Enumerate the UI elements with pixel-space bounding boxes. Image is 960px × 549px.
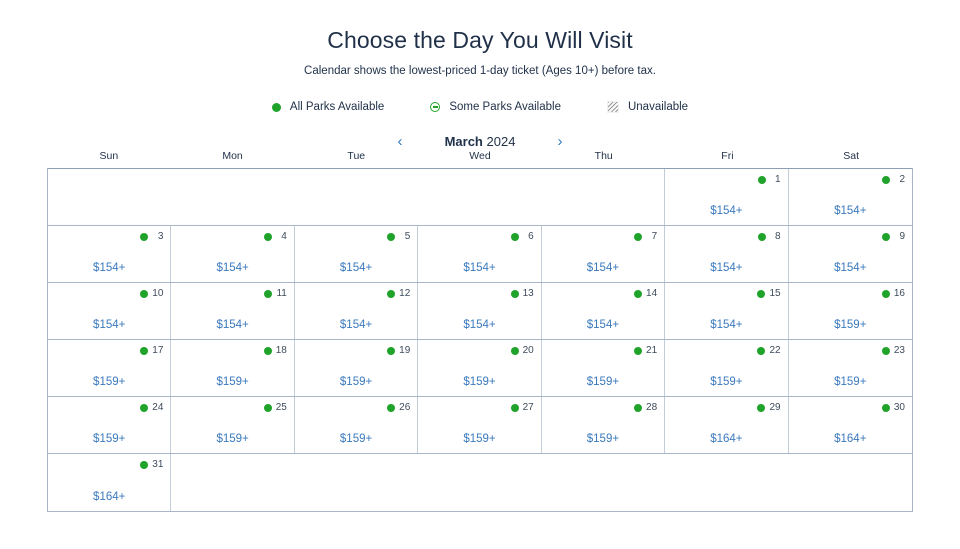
day-header: 14 (634, 288, 657, 299)
availability-legend: All Parks Available Some Parks Available… (0, 99, 960, 115)
day-number: 7 (646, 231, 657, 242)
green-dot-filled-icon (387, 233, 395, 241)
calendar-day-cell[interactable]: 17$159+ (48, 340, 171, 396)
day-number: 9 (894, 231, 905, 242)
calendar-day-cell[interactable]: 16$159+ (789, 283, 912, 339)
day-header: 1 (758, 174, 781, 185)
day-price: $159+ (789, 318, 912, 332)
day-header: 5 (387, 231, 410, 242)
day-number: 8 (770, 231, 781, 242)
day-price: $154+ (171, 261, 293, 275)
day-price: $159+ (48, 375, 170, 389)
day-header: 3 (140, 231, 163, 242)
calendar-day-cell[interactable]: 20$159+ (418, 340, 541, 396)
calendar-day-cell[interactable]: 30$164+ (789, 397, 912, 453)
day-number: 19 (399, 345, 410, 356)
day-price: $159+ (789, 375, 912, 389)
day-number: 17 (152, 345, 163, 356)
day-number: 23 (894, 345, 905, 356)
day-price: $159+ (542, 375, 664, 389)
day-header: 23 (882, 345, 905, 356)
day-price: $154+ (789, 204, 912, 218)
month-navigation: ‹ March 2024 › (0, 132, 960, 152)
day-header: 10 (140, 288, 163, 299)
day-number: 3 (152, 231, 163, 242)
day-header: 24 (140, 402, 163, 413)
day-price: $159+ (171, 375, 293, 389)
green-dot-filled-icon (140, 347, 148, 355)
green-dot-filled-icon (882, 290, 890, 298)
day-price: $154+ (789, 261, 912, 275)
day-number: 4 (276, 231, 287, 242)
calendar-day-cell[interactable]: 26$159+ (295, 397, 418, 453)
green-dot-filled-icon (264, 290, 272, 298)
calendar-day-cell[interactable]: 22$159+ (665, 340, 788, 396)
weekday-label-thu: Thu (542, 150, 666, 164)
green-dot-filled-icon (758, 176, 766, 184)
day-number: 5 (399, 231, 410, 242)
day-number: 27 (523, 402, 534, 413)
calendar-day-cell[interactable]: 21$159+ (542, 340, 665, 396)
day-number: 15 (769, 288, 780, 299)
day-price: $154+ (665, 204, 787, 218)
day-price: $159+ (295, 432, 417, 446)
legend-label-some-parks: Some Parks Available (449, 100, 561, 114)
calendar-day-cell[interactable]: 15$154+ (665, 283, 788, 339)
day-number: 28 (646, 402, 657, 413)
day-price: $154+ (295, 318, 417, 332)
calendar-day-cell[interactable]: 13$154+ (418, 283, 541, 339)
green-dot-filled-icon (757, 290, 765, 298)
green-dot-filled-icon (757, 404, 765, 412)
green-dot-filled-icon (264, 404, 272, 412)
calendar-day-cell[interactable]: 12$154+ (295, 283, 418, 339)
day-price: $154+ (171, 318, 293, 332)
calendar-week-row: 1$154+2$154+ (48, 169, 912, 226)
green-dot-filled-icon (264, 233, 272, 241)
day-number: 2 (894, 174, 905, 185)
hatch-unavailable-icon (607, 101, 619, 113)
day-number: 25 (276, 402, 287, 413)
weekday-label-wed: Wed (418, 150, 542, 164)
day-price: $154+ (665, 261, 787, 275)
day-price: $154+ (542, 261, 664, 275)
day-number: 16 (894, 288, 905, 299)
green-dot-filled-icon (634, 290, 642, 298)
calendar-day-cell[interactable]: 18$159+ (171, 340, 294, 396)
year-number: 2024 (487, 134, 516, 149)
day-header: 12 (387, 288, 410, 299)
day-price: $164+ (48, 490, 170, 504)
green-dot-filled-icon (387, 404, 395, 412)
green-dot-filled-icon (140, 290, 148, 298)
day-header: 18 (264, 345, 287, 356)
day-header: 22 (757, 345, 780, 356)
day-header: 19 (387, 345, 410, 356)
green-dot-filled-icon (387, 290, 395, 298)
day-number: 20 (523, 345, 534, 356)
green-dot-filled-icon (140, 233, 148, 241)
day-header: 7 (634, 231, 657, 242)
day-header: 29 (757, 402, 780, 413)
day-header: 25 (264, 402, 287, 413)
day-price: $154+ (418, 318, 540, 332)
day-header: 8 (758, 231, 781, 242)
calendar-day-cell[interactable]: 6$154+ (418, 226, 541, 282)
calendar-day-cell[interactable]: 29$164+ (665, 397, 788, 453)
day-number: 1 (770, 174, 781, 185)
day-number: 18 (276, 345, 287, 356)
day-number: 24 (152, 402, 163, 413)
day-header: 20 (511, 345, 534, 356)
day-number: 30 (894, 402, 905, 413)
green-dot-filled-icon (511, 233, 519, 241)
calendar-week-row: 17$159+18$159+19$159+20$159+21$159+22$15… (48, 340, 912, 397)
calendar-grid: 1$154+2$154+3$154+4$154+5$154+6$154+7$15… (47, 168, 913, 512)
calendar-day-cell[interactable]: 5$154+ (295, 226, 418, 282)
calendar-day-cell[interactable]: 23$159+ (789, 340, 912, 396)
weekday-label-sun: Sun (47, 150, 171, 164)
weekday-header-row: SunMonTueWedThuFriSat (47, 150, 913, 164)
calendar-day-cell[interactable]: 14$154+ (542, 283, 665, 339)
day-price: $159+ (171, 432, 293, 446)
day-price: $154+ (542, 318, 664, 332)
calendar-day-cell[interactable]: 3$154+ (48, 226, 171, 282)
empty-days-placeholder (171, 454, 912, 511)
day-header: 15 (757, 288, 780, 299)
page-title: Choose the Day You Will Visit (0, 0, 960, 54)
day-price: $154+ (48, 318, 170, 332)
day-header: 2 (882, 174, 905, 185)
calendar-day-cell[interactable]: 24$159+ (48, 397, 171, 453)
day-header: 16 (882, 288, 905, 299)
day-price: $154+ (665, 318, 787, 332)
green-dot-filled-icon (511, 404, 519, 412)
day-number: 29 (769, 402, 780, 413)
day-header: 13 (511, 288, 534, 299)
calendar-week-row: 10$154+11$154+12$154+13$154+14$154+15$15… (48, 283, 912, 340)
day-number: 6 (523, 231, 534, 242)
day-header: 31 (140, 459, 163, 470)
day-number: 10 (152, 288, 163, 299)
day-price: $159+ (418, 375, 540, 389)
day-price: $159+ (418, 432, 540, 446)
green-dot-filled-icon (882, 233, 890, 241)
green-dot-filled-icon (387, 347, 395, 355)
page-subtitle: Calendar shows the lowest-priced 1-day t… (0, 54, 960, 78)
legend-label-unavailable: Unavailable (628, 100, 688, 114)
green-dot-filled-icon (140, 404, 148, 412)
calendar-day-cell[interactable]: 9$154+ (789, 226, 912, 282)
calendar-day-cell[interactable]: 10$154+ (48, 283, 171, 339)
current-month-label: March 2024 (420, 133, 540, 151)
weekday-label-sat: Sat (789, 150, 913, 164)
green-dot-filled-icon (272, 103, 281, 112)
day-price: $154+ (295, 261, 417, 275)
day-number: 22 (769, 345, 780, 356)
day-header: 27 (511, 402, 534, 413)
weekday-label-mon: Mon (171, 150, 295, 164)
day-price: $159+ (295, 375, 417, 389)
green-dot-filled-icon (140, 461, 148, 469)
next-month-chevron-icon[interactable]: › (540, 133, 580, 151)
weekday-label-fri: Fri (666, 150, 790, 164)
green-dot-filled-icon (264, 347, 272, 355)
day-price: $154+ (418, 261, 540, 275)
day-header: 21 (634, 345, 657, 356)
day-header: 6 (511, 231, 534, 242)
day-header: 4 (264, 231, 287, 242)
calendar-day-cell[interactable]: 11$154+ (171, 283, 294, 339)
empty-days-placeholder (48, 169, 665, 225)
legend-item-unavailable: Unavailable (607, 100, 688, 114)
day-price: $164+ (665, 432, 787, 446)
green-dot-filled-icon (882, 404, 890, 412)
green-dot-filled-icon (634, 347, 642, 355)
day-number: 11 (276, 288, 287, 299)
green-dot-partial-icon (430, 102, 440, 112)
calendar-day-cell[interactable]: 1$154+ (665, 169, 788, 225)
calendar-day-cell[interactable]: 8$154+ (665, 226, 788, 282)
calendar-day-cell[interactable]: 27$159+ (418, 397, 541, 453)
calendar-week-row: 31$164+ (48, 454, 912, 511)
green-dot-filled-icon (634, 404, 642, 412)
green-dot-filled-icon (511, 347, 519, 355)
calendar-day-cell[interactable]: 7$154+ (542, 226, 665, 282)
legend-label-all-parks: All Parks Available (290, 100, 384, 114)
day-header: 9 (882, 231, 905, 242)
green-dot-filled-icon (757, 347, 765, 355)
green-dot-filled-icon (758, 233, 766, 241)
day-number: 21 (646, 345, 657, 356)
calendar-week-row: 24$159+25$159+26$159+27$159+28$159+29$16… (48, 397, 912, 454)
legend-item-some-parks: Some Parks Available (430, 100, 561, 114)
day-header: 26 (387, 402, 410, 413)
calendar-week-row: 3$154+4$154+5$154+6$154+7$154+8$154+9$15… (48, 226, 912, 283)
day-number: 31 (152, 459, 163, 470)
calendar-day-cell[interactable]: 4$154+ (171, 226, 294, 282)
green-dot-filled-icon (882, 347, 890, 355)
ticket-calendar-page: Choose the Day You Will Visit Calendar s… (0, 0, 960, 549)
day-price: $159+ (48, 432, 170, 446)
day-price: $164+ (789, 432, 912, 446)
prev-month-chevron-icon[interactable]: ‹ (380, 133, 420, 151)
day-header: 30 (882, 402, 905, 413)
day-number: 13 (523, 288, 534, 299)
calendar-day-cell[interactable]: 31$164+ (48, 454, 171, 511)
calendar-day-cell[interactable]: 28$159+ (542, 397, 665, 453)
day-header: 17 (140, 345, 163, 356)
month-name: March (445, 134, 483, 149)
day-number: 12 (399, 288, 410, 299)
green-dot-filled-icon (882, 176, 890, 184)
day-price: $159+ (542, 432, 664, 446)
legend-item-all-parks: All Parks Available (272, 100, 384, 114)
green-dot-filled-icon (511, 290, 519, 298)
calendar-day-cell[interactable]: 25$159+ (171, 397, 294, 453)
calendar-day-cell[interactable]: 2$154+ (789, 169, 912, 225)
day-header: 28 (634, 402, 657, 413)
day-header: 11 (264, 288, 287, 299)
calendar-container: SunMonTueWedThuFriSat 1$154+2$154+3$154+… (47, 150, 913, 512)
day-price: $154+ (48, 261, 170, 275)
green-dot-filled-icon (634, 233, 642, 241)
calendar-day-cell[interactable]: 19$159+ (295, 340, 418, 396)
weekday-label-tue: Tue (294, 150, 418, 164)
day-number: 26 (399, 402, 410, 413)
day-number: 14 (646, 288, 657, 299)
day-price: $159+ (665, 375, 787, 389)
